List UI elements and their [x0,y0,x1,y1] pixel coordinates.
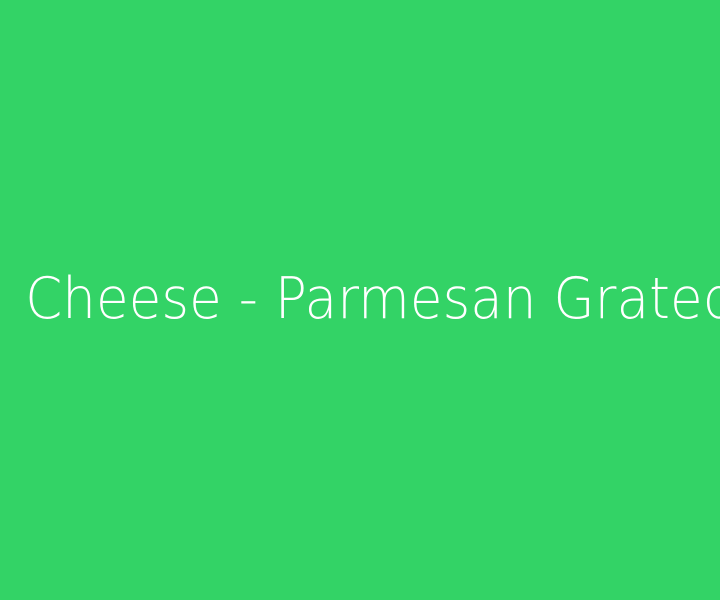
product-placeholder-card: Cheese - Parmesan Grated [0,0,720,600]
product-name-label: Cheese - Parmesan Grated [25,270,695,330]
